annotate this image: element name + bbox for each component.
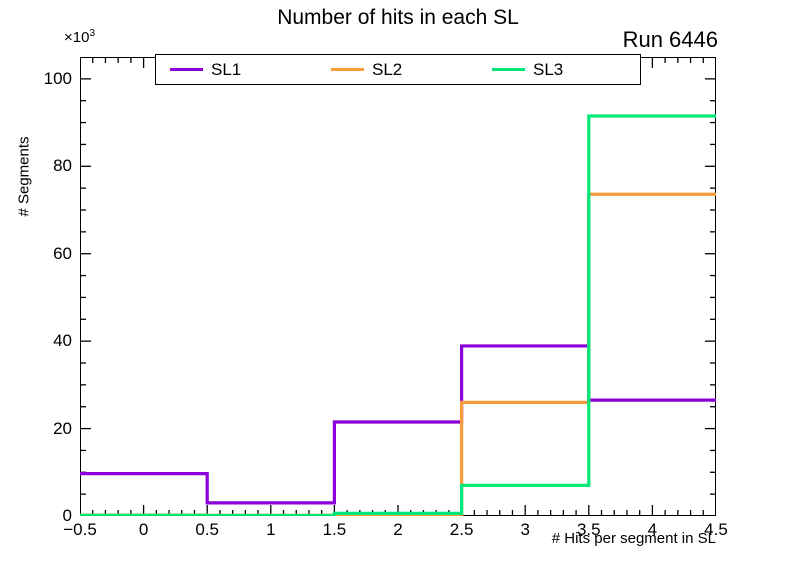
y-tick-label: 20: [0, 420, 72, 437]
x-tick-label: 1.5: [299, 520, 369, 539]
x-tick-label: 0.5: [172, 520, 242, 539]
y-tick-label: 80: [0, 157, 72, 174]
x-tick-label: 3.5: [554, 520, 624, 539]
x-tick-0: 0: [109, 520, 179, 539]
x-tick-label: 1: [236, 520, 306, 539]
series-line-sl1: [80, 346, 716, 503]
x-tick-label: 0: [109, 520, 179, 539]
legend-entry-sl1[interactable]: SL1: [170, 55, 241, 84]
x-tick-3.5: 3.5: [554, 520, 624, 539]
x-tick-label: 3: [490, 520, 560, 539]
y-axis-title: # Segments: [16, 107, 33, 247]
y-tick-label: 60: [0, 245, 72, 262]
x-tick-minus0.5: −0.5: [45, 520, 115, 539]
y-axis-exponent-power: 3: [89, 28, 95, 39]
legend[interactable]: SL1SL2SL3: [155, 54, 641, 85]
legend-label-sl1: SL1: [211, 61, 241, 78]
legend-entry-sl2[interactable]: SL2: [331, 55, 402, 84]
legend-swatch-sl3: [492, 68, 525, 71]
x-tick-4: 4: [617, 520, 687, 539]
chart-canvas: Number of hits in each SL Run 6446 ×103 …: [0, 0, 796, 572]
x-tick-label: 4: [617, 520, 687, 539]
plot-area: [80, 57, 716, 516]
x-tick-4.5: 4.5: [681, 520, 751, 539]
axis-ticks: [80, 57, 716, 516]
x-tick-2.5: 2.5: [427, 520, 497, 539]
y-axis-exponent-prefix: ×10: [64, 29, 89, 46]
x-tick-label: 2: [363, 520, 433, 539]
y-axis-exponent: ×103: [64, 28, 95, 46]
y-tick-20: 20: [0, 420, 72, 437]
series-line-sl2: [80, 194, 716, 515]
legend-entry-sl3[interactable]: SL3: [492, 55, 563, 84]
legend-label-sl3: SL3: [533, 61, 563, 78]
y-tick-40: 40: [0, 332, 72, 349]
y-tick-label: 40: [0, 332, 72, 349]
x-tick-2: 2: [363, 520, 433, 539]
x-tick-label: −0.5: [45, 520, 115, 539]
x-tick-3: 3: [490, 520, 560, 539]
x-tick-1.5: 1.5: [299, 520, 369, 539]
x-tick-label: 2.5: [427, 520, 497, 539]
series-line-sl3: [80, 116, 716, 515]
legend-label-sl2: SL2: [372, 61, 402, 78]
y-tick-100: 100: [0, 70, 72, 87]
histogram-series: [80, 116, 716, 515]
run-label: Run 6446: [623, 28, 718, 52]
y-tick-label: 100: [0, 70, 72, 87]
legend-swatch-sl1: [170, 68, 203, 71]
x-tick-1: 1: [236, 520, 306, 539]
y-tick-60: 60: [0, 245, 72, 262]
x-tick-label: 4.5: [681, 520, 751, 539]
y-tick-80: 80: [0, 157, 72, 174]
x-tick-0.5: 0.5: [172, 520, 242, 539]
legend-swatch-sl2: [331, 68, 364, 71]
